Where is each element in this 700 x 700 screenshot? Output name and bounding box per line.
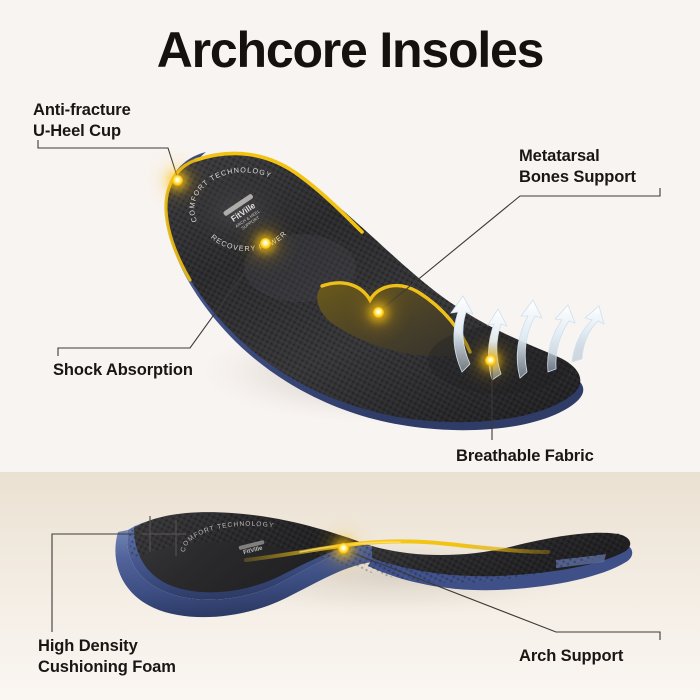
callout-dot-shock xyxy=(260,238,271,249)
callout-label-metatarsal: Metatarsal Bones Support xyxy=(519,146,636,188)
airflow-arrow xyxy=(451,296,473,372)
brand-arc-top: COMFORT TECHNOLOGY xyxy=(187,165,273,223)
brand-mark-top: COMFORT TECHNOLOGY RECOVERY POWER FitVil… xyxy=(187,165,292,253)
callout-label-arch: Arch Support xyxy=(519,646,623,667)
airflow-arrow xyxy=(488,309,507,380)
callout-dot-arch xyxy=(338,543,349,554)
leader-line-heel-cup xyxy=(38,140,177,176)
top-panel: COMFORT TECHNOLOGY RECOVERY POWER FitVil… xyxy=(0,0,700,478)
svg-text:COMFORT TECHNOLOGY: COMFORT TECHNOLOGY xyxy=(187,165,273,223)
page-title: Archcore Insoles xyxy=(0,22,700,78)
brand-sub1-top: ARCH & HEEL xyxy=(234,208,261,229)
svg-text:RECOVERY POWER: RECOVERY POWER xyxy=(209,229,288,253)
insole-side-wall xyxy=(166,206,583,430)
brand-name-top: FitVille xyxy=(229,200,258,224)
brand-sub2-top: SUPPORT xyxy=(240,215,260,231)
callout-dot-breathable xyxy=(485,355,496,366)
callout-label-breathable: Breathable Fabric xyxy=(456,446,594,467)
airflow-arrow xyxy=(517,300,542,378)
airflow-arrow xyxy=(572,306,604,362)
callout-label-foam: High Density Cushioning Foam xyxy=(38,636,176,678)
leader-line-metatarsal xyxy=(382,188,660,309)
metatarsal-pad xyxy=(317,283,470,357)
product-shadow xyxy=(198,320,562,424)
leader-line-shock xyxy=(58,248,262,356)
airflow-arrows xyxy=(451,296,604,380)
brand-arc-bottom: RECOVERY POWER xyxy=(209,229,288,253)
callout-label-shock: Shock Absorption xyxy=(53,360,193,381)
heel-rim-accent xyxy=(196,153,362,232)
infographic-page: COMFORT TECHNOLOGY RECOVERY POWER FitVil… xyxy=(0,0,700,700)
metatarsal-pad-outline xyxy=(322,283,470,352)
callout-label-heel-cup: Anti-fracture U-Heel Cup xyxy=(33,100,131,142)
callout-dot-metatarsal xyxy=(373,307,384,318)
callout-dot-heel-cup xyxy=(172,175,183,186)
airflow-arrow xyxy=(548,305,575,372)
